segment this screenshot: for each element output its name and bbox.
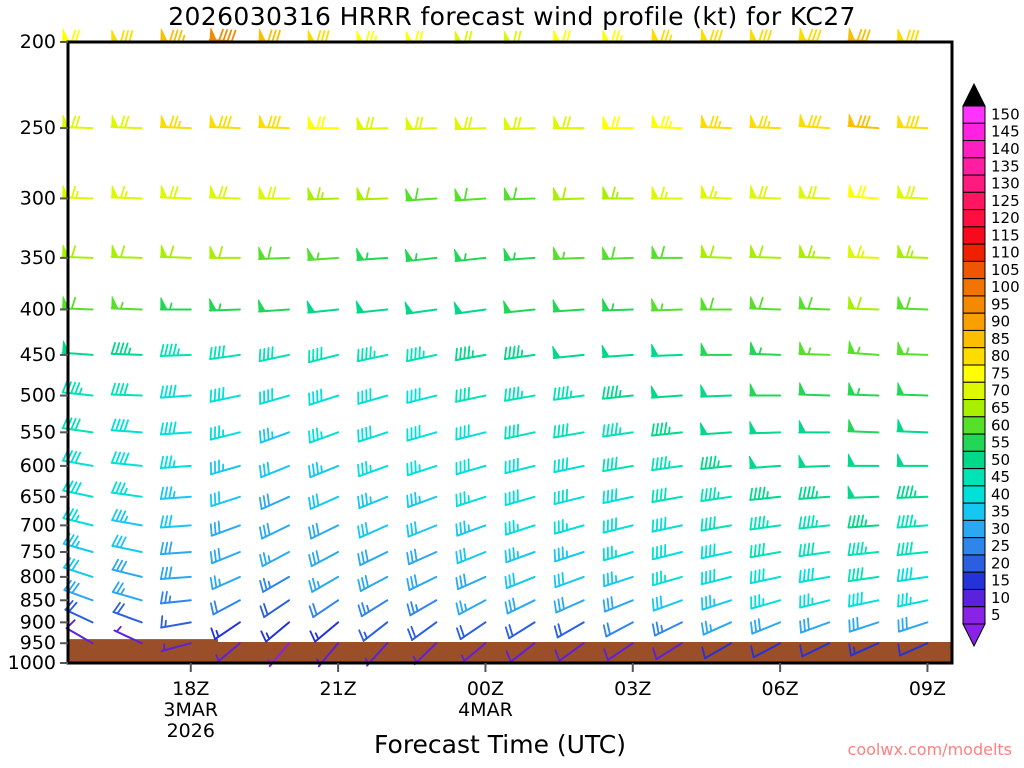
colorbar-tick-label: 20 [991,554,1010,572]
wind-barb [260,552,289,566]
y-tick-label: 500 [20,385,56,407]
wind-barb [603,423,633,436]
wind-barb [358,523,387,538]
wind-barb [897,486,927,498]
wind-barb [848,28,878,42]
y-tick-label: 650 [20,486,56,508]
wind-barb [309,428,338,442]
wind-barb [407,347,436,361]
wind-barb [258,300,289,312]
wind-barb [505,425,534,439]
colorbar-tick-label: 10 [991,589,1010,607]
wind-barb [652,488,682,502]
wind-barb [897,29,927,42]
wind-barb [653,622,682,635]
wind-barb [211,622,240,639]
wind-barb [799,296,829,309]
wind-barb [701,385,731,397]
wind-barb [555,573,584,587]
wind-barb [750,296,780,309]
wind-barb [751,619,780,633]
wind-barb [309,390,338,405]
colorbar-tick-label: 25 [991,537,1010,555]
wind-barb [898,515,928,527]
colorbar-swatch [963,589,985,606]
wind-barb [456,492,485,506]
wind-barb [308,188,338,200]
wind-barb [456,347,486,361]
wind-barb [702,570,731,584]
wind-barb [456,600,485,614]
colorbar-tick-label: 110 [991,244,1020,262]
wind-barb [112,343,142,355]
wind-barb [652,457,682,470]
wind-barb [799,455,829,467]
wind-barb [358,494,387,508]
wind-barb [799,487,829,499]
colorbar-tick-label: 40 [991,485,1010,503]
wind-barb [897,383,927,396]
wind-barb [897,454,927,466]
wind-barb [161,245,191,258]
wind-barb [161,344,191,356]
colorbar-swatch [963,141,985,158]
colorbar-swatch [963,434,985,451]
wind-barb [358,389,387,404]
wind-barb [406,117,436,129]
wind-barb [211,549,240,563]
wind-barb [358,550,387,565]
wind-barb [749,456,780,468]
wind-barb [897,245,927,258]
wind-barb [651,299,681,311]
wind-barb [260,389,289,404]
wind-barb [161,616,191,627]
colorbar-tick-label: 55 [991,434,1010,452]
wind-barb [504,188,534,200]
wind-barb [113,560,142,577]
y-tick-label: 700 [20,514,56,536]
wind-barb [358,576,387,591]
wind-barb [112,296,142,309]
wind-barb [800,594,829,607]
wind-barb [112,482,142,497]
wind-barb [751,595,780,609]
wind-barb [307,301,338,313]
wind-barb [161,185,191,198]
wind-barb [505,459,534,473]
wind-barb [800,569,830,583]
wind-barb [503,301,534,313]
wind-barb [112,384,142,396]
wind-barb [211,521,240,535]
colorbar-tick-label: 115 [991,226,1020,244]
wind-barb [505,574,534,588]
wind-barb [454,249,485,261]
colorbar-swatch [963,365,985,382]
wind-barb [112,419,142,432]
wind-barb [504,248,535,260]
wind-barb [799,245,829,258]
wind-barb [604,572,633,586]
colorbar-swatch [963,555,985,572]
wind-barb [211,576,240,589]
y-tick-label: 950 [20,632,56,654]
wind-barb [455,189,486,201]
wind-barb [161,115,191,128]
wind-barb [260,347,289,361]
wind-barb [161,386,191,398]
wind-barb [848,341,878,355]
wind-barb [211,388,240,402]
wind-barb [309,494,338,509]
wind-barb [750,421,780,433]
wind-barb [701,517,731,531]
wind-barb [799,28,829,42]
colorbar-swatch [963,158,985,175]
colorbar-tick-label: 120 [991,209,1020,227]
wind-barb [407,600,436,615]
wind-barb [651,344,681,356]
wind-barb [358,347,387,361]
colorbar-over-arrow [963,84,985,106]
colorbar-tick-label: 145 [991,123,1020,141]
wind-barb [849,593,878,607]
wind-barb [456,574,485,589]
wind-barb [112,452,142,466]
wind-barb [849,568,879,581]
wind-barb [309,524,338,539]
wind-barb [259,247,289,259]
colorbar-swatch [963,210,985,227]
wind-barb [701,29,731,42]
colorbar-tick-label: 65 [991,399,1010,417]
colorbar-swatch [963,123,985,140]
wind-barb [358,426,387,441]
wind-barb [309,463,338,477]
colorbar-tick-label: 100 [991,278,1020,296]
colorbar-tick-label: 45 [991,468,1010,486]
wind-barb [309,348,338,362]
wind-barb [553,346,584,358]
wind-barb [554,116,584,128]
wind-barb [897,419,927,432]
wind-barb [702,596,731,610]
colorbar-swatch [963,313,985,330]
wind-barb [310,622,338,641]
wind-barb [898,543,928,556]
colorbar-swatch [963,330,985,347]
wind-barb [211,600,240,614]
wind-barb [161,422,191,434]
colorbar-tick-label: 70 [991,382,1010,400]
colorbar-tick-label: 15 [991,572,1010,590]
wind-barb [603,186,633,198]
wind-barb [701,115,731,128]
wind-barb [604,597,633,611]
y-tick-label: 800 [20,566,56,588]
colorbar-swatch [963,296,985,313]
wind-barb [701,185,731,198]
wind-barb [407,426,436,441]
x-tick-label-time: 21Z [320,678,357,700]
y-tick-label: 400 [20,298,56,320]
wind-barb [405,302,436,314]
x-tick-label-time: 09Z [909,678,946,700]
colorbar-tick-label: 60 [991,416,1010,434]
wind-barb [653,571,682,585]
wind-barb [555,547,584,561]
wind-barb [604,518,633,532]
wind-profile-chart: 2026030316 HRRR forecast wind profile (k… [0,0,1024,768]
colorbar-swatch [963,192,985,209]
wind-barb [211,460,240,474]
wind-barb [555,520,584,534]
x-tick-label-time: 00Z [467,678,504,700]
wind-barb [848,383,878,396]
wind-barb [554,458,583,472]
wind-barb [260,600,289,617]
wind-barb [407,550,436,565]
y-tick-label: 250 [20,117,56,139]
wind-barb [652,29,682,42]
wind-barb [63,29,93,42]
wind-barb [848,486,878,498]
wind-barb [555,622,584,637]
wind-barb [603,386,633,399]
y-tick-label: 350 [20,247,56,269]
y-tick-label: 1000 [8,652,56,674]
wind-barb [555,490,584,504]
wind-barb [603,30,633,42]
wind-barb [161,567,191,579]
wind-barb [405,249,436,261]
colorbar-tick-label: 80 [991,347,1010,365]
colorbar-swatch [963,382,985,399]
wind-barb [553,300,584,312]
wind-barb [750,245,780,258]
colorbar-tick-label: 130 [991,175,1020,193]
colorbar-swatch [963,417,985,434]
colorbar-swatch [963,572,985,589]
wind-barb [307,248,338,260]
wind-barb [702,622,731,635]
wind-barb [506,490,535,505]
colorbar-swatch [963,279,985,296]
wind-barb [750,342,780,355]
wind-barb [260,463,289,477]
wind-barb [310,600,339,617]
wind-barb [260,577,289,592]
colorbar-tick-label: 85 [991,330,1010,348]
x-tick-label-year: 2026 [167,720,215,742]
wind-barb [750,384,780,396]
wind-barb [897,342,927,355]
colorbar-under-arrow [963,624,985,646]
wind-barb [161,542,191,554]
colorbar-tick-label: 125 [991,192,1020,210]
colorbar-tick-label: 90 [991,313,1010,331]
x-axis-title: Forecast Time (UTC) [250,730,750,759]
colorbar-swatch [963,469,985,486]
colorbar-swatch [963,261,985,278]
wind-barb [112,30,142,42]
y-tick-label: 450 [20,344,56,366]
wind-barb [553,247,583,259]
y-axis: 2002503003504004505005506006507007508008… [8,31,68,674]
wind-barb [456,388,485,402]
watermark: coolwx.com/modelts [848,740,1012,759]
wind-barb [211,492,240,506]
colorbar-swatch [963,451,985,468]
wind-barb [751,544,781,558]
wind-barb [505,521,534,535]
wind-barb [750,185,780,198]
y-tick-label: 750 [20,541,56,563]
wind-barb [504,117,534,129]
y-tick-label: 850 [20,589,56,611]
wind-barb [210,115,240,128]
colorbar-tick-label: 50 [991,451,1010,469]
wind-barb [701,343,731,355]
wind-barb [653,545,682,559]
wind-barb [800,618,829,632]
colorbar-swatch [963,175,985,192]
wind-barb [454,302,485,314]
wind-barb [701,297,731,309]
wind-barb [358,462,387,476]
wind-barb [259,29,289,42]
wind-barb [358,600,387,616]
wind-barb [456,425,485,439]
colorbar-tick-label: 135 [991,157,1020,175]
wind-barb [602,345,633,357]
wind-barb [652,423,682,436]
wind-barb [849,618,878,632]
colorbar-swatch [963,503,985,520]
wind-barb [505,346,535,359]
wind-barb [701,245,731,258]
wind-barb [210,346,240,359]
wind-barb [259,186,289,198]
wind-barb [161,456,191,468]
colorbar-swatch [963,520,985,537]
wind-barb [359,622,387,640]
wind-barb [799,342,829,355]
wind-barb [455,117,485,129]
wind-barb [651,386,682,398]
wind-barb [898,618,927,632]
wind-barb [554,387,584,400]
wind-barb [309,577,338,592]
wind-barb [799,516,829,529]
wind-barb [308,30,338,42]
wind-barb [457,622,486,639]
wind-barb [848,184,878,198]
wind-barb [799,185,829,198]
colorbar-swatch [963,538,985,555]
wind-barb [112,185,142,198]
wind-barb [897,115,927,128]
wind-barb [210,28,240,42]
wind-barb [407,461,436,475]
colorbar: 1501451401351301251201151101051009590858… [963,84,1020,646]
wind-barb [750,115,780,128]
wind-barb-field [63,28,928,666]
wind-barb [554,424,584,438]
wind-barb [603,458,633,472]
wind-barb [602,247,632,259]
wind-barb [211,426,240,439]
wind-barb [356,301,387,313]
colorbar-swatch [963,486,985,503]
wind-barb [161,29,191,42]
wind-barb [897,185,927,198]
wind-barb [406,189,437,201]
wind-barb [848,245,878,258]
wind-barb [848,114,878,128]
plot-canvas: 2002503003504004505005506006507007508008… [0,0,1024,768]
wind-barb [652,115,682,128]
y-tick-label: 200 [20,31,56,53]
wind-barb [407,388,436,402]
wind-barb [112,115,142,128]
colorbar-tick-label: 5 [991,606,1001,624]
wind-barb [750,487,780,500]
wind-barb [210,185,240,198]
colorbar-tick-label: 150 [991,105,1020,123]
wind-barb [505,599,534,614]
wind-barb [700,422,731,434]
wind-barb [848,543,878,556]
wind-barb [357,188,387,200]
wind-barb [701,456,731,469]
wind-barb [209,299,239,311]
wind-barb [603,489,632,503]
colorbar-swatch [963,400,985,417]
wind-barb [848,296,878,309]
wind-barb [408,622,436,640]
wind-barb [652,186,682,198]
colorbar-tick-label: 75 [991,364,1010,382]
wind-barb [407,493,436,507]
wind-barb [261,622,289,641]
y-tick-label: 900 [20,611,56,633]
x-tick-label-time: 06Z [762,678,799,700]
wind-barb [357,117,387,129]
wind-barb [112,245,142,258]
wind-barb [260,428,289,442]
wind-barb [407,575,436,590]
wind-barb [112,510,142,526]
wind-barb [898,568,928,581]
wind-barb [456,521,485,535]
wind-barb [653,596,682,610]
colorbar-tick-label: 105 [991,261,1020,279]
wind-barb [113,582,142,600]
wind-barb [260,494,289,509]
wind-barb [112,536,141,552]
wind-barb [113,603,141,623]
wind-barb [161,592,191,604]
wind-barb [603,116,633,128]
wind-barb [553,188,583,200]
wind-barb [555,598,584,613]
wind-barb [604,547,633,561]
wind-barb [848,515,878,527]
wind-barb [799,420,829,432]
y-tick-label: 600 [20,455,56,477]
